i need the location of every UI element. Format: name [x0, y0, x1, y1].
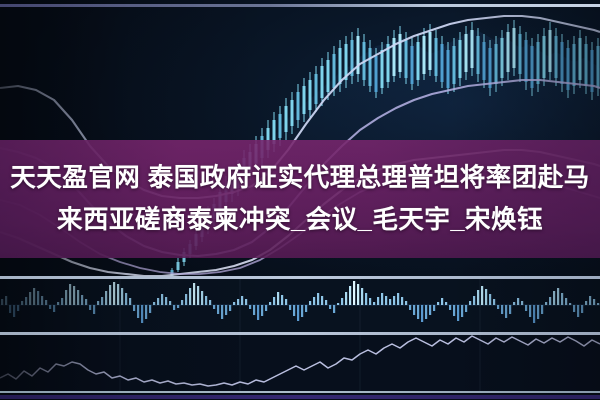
news-thumbnail-image: 天天盈官网 泰国政府证实代理总理普坦将率团赴马 来西亚磋商泰柬冲突_会议_毛天宇… — [0, 0, 600, 400]
headline-line-1: 天天盈官网 泰国政府证实代理总理普坦将率团赴马 — [10, 158, 590, 198]
histogram-panel — [0, 279, 600, 332]
headline-text-block: 天天盈官网 泰国政府证实代理总理普坦将率团赴马 来西亚磋商泰柬冲突_会议_毛天宇… — [0, 140, 600, 258]
headline-line-2: 来西亚磋商泰柬冲突_会议_毛天宇_宋焕钰 — [57, 200, 543, 240]
line-panel — [0, 335, 600, 391]
